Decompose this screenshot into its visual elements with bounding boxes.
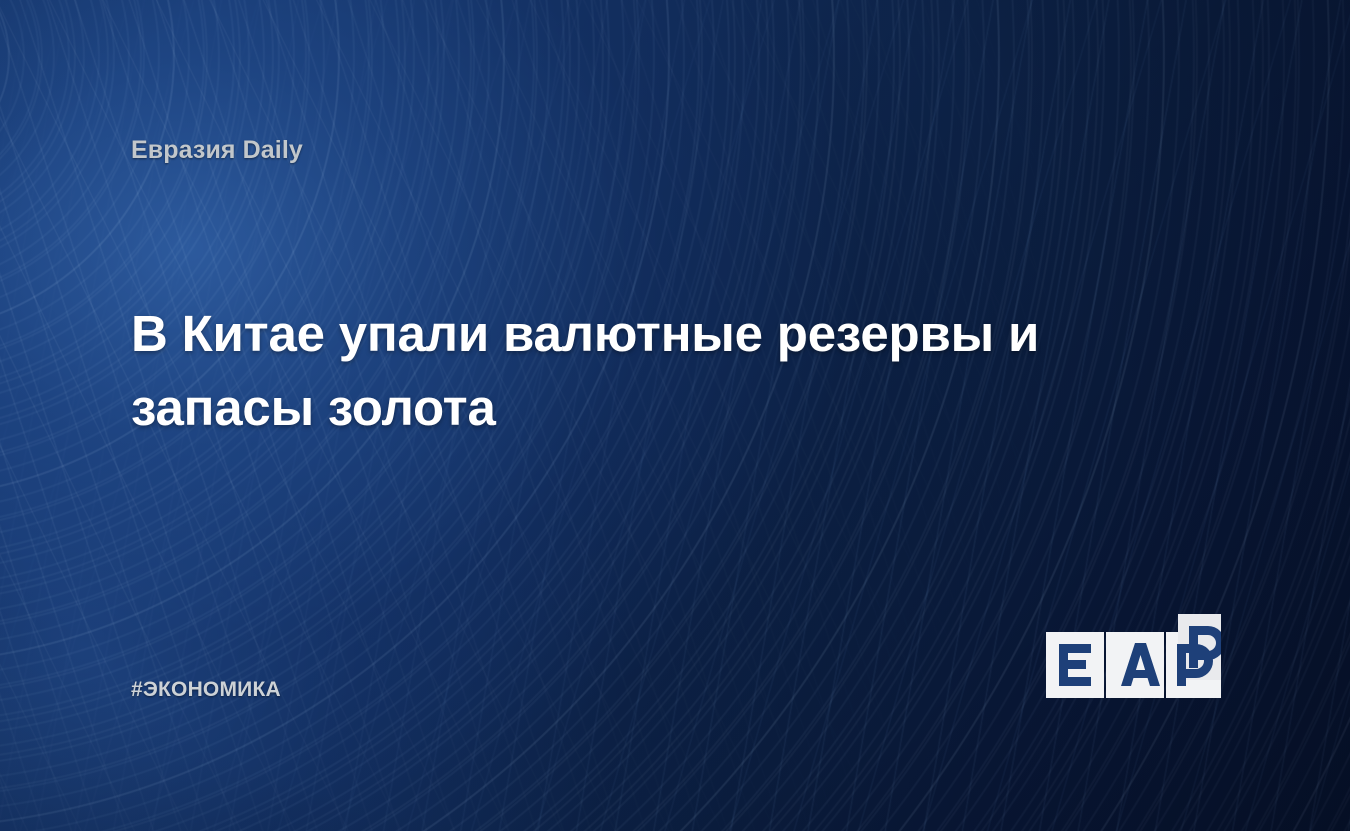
ead-logo-svg bbox=[1045, 612, 1221, 700]
page-title: В Китае упали валютные резервы и запасы … bbox=[131, 297, 1091, 444]
ead-logo[interactable] bbox=[1045, 612, 1221, 700]
share-card: Евразия Daily В Китае упали валютные рез… bbox=[0, 0, 1350, 831]
card-content: Евразия Daily В Китае упали валютные рез… bbox=[0, 0, 1350, 831]
site-name[interactable]: Евразия Daily bbox=[131, 136, 303, 165]
category-tag[interactable]: #ЭКОНОМИКА bbox=[131, 678, 281, 702]
